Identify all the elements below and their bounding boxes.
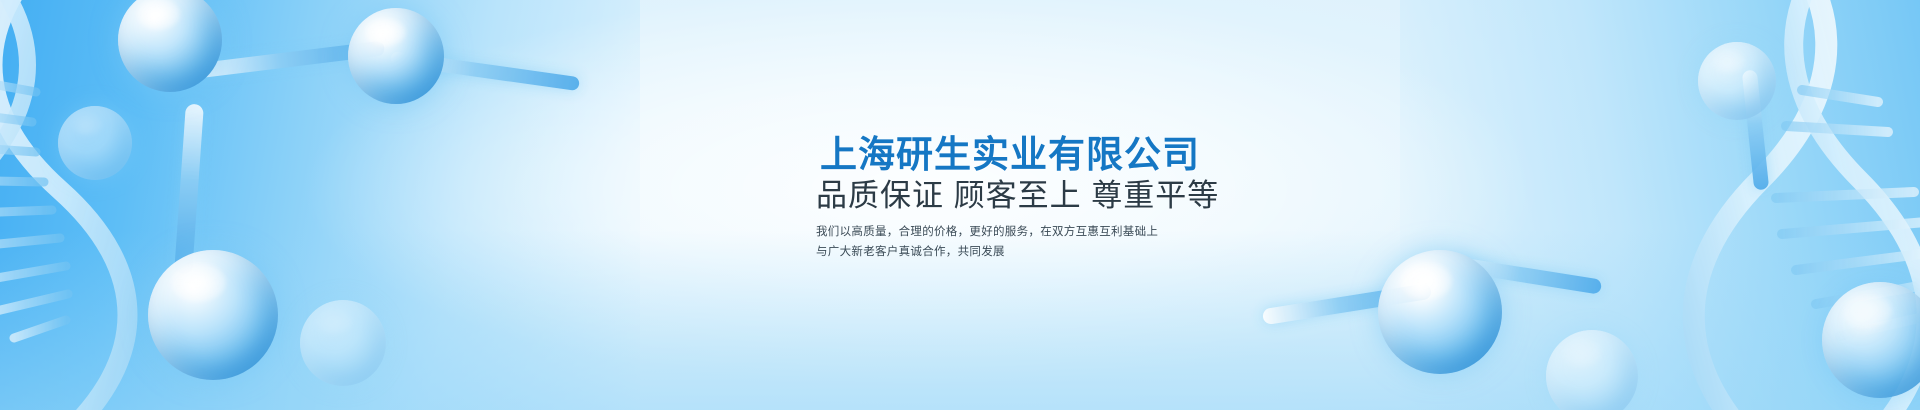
molecule-sphere-icon xyxy=(300,300,386,386)
company-name-title: 上海研生实业有限公司 xyxy=(820,136,1336,173)
molecule-sphere-icon xyxy=(1698,42,1776,120)
company-hero-banner: 上海研生实业有限公司 品质保证 顾客至上 尊重平等 我们以高质量，合理的价格，更… xyxy=(0,0,1920,410)
molecule-sphere-icon xyxy=(348,8,444,104)
molecule-sphere-icon xyxy=(1378,250,1502,374)
company-description-line-2: 与广大新老客户真诚合作，共同发展 xyxy=(816,242,1336,262)
banner-text-block: 上海研生实业有限公司 品质保证 顾客至上 尊重平等 我们以高质量，合理的价格，更… xyxy=(816,136,1336,262)
company-description-line-1: 我们以高质量，合理的价格，更好的服务，在双方互惠互利基础上 xyxy=(816,222,1336,242)
molecule-sphere-icon xyxy=(148,250,278,380)
company-slogan: 品质保证 顾客至上 尊重平等 xyxy=(816,180,1336,211)
molecule-sphere-icon xyxy=(58,106,132,180)
